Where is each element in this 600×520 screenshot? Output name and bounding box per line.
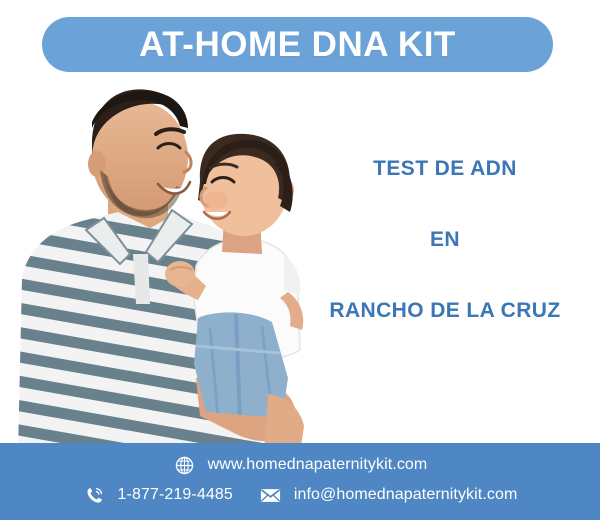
headline-line-2: EN [300, 229, 590, 250]
footer-email[interactable]: info@homednapaternitykit.com [259, 483, 518, 507]
page-title: AT-HOME DNA KIT [139, 27, 456, 62]
family-photo [0, 78, 330, 453]
footer-band: www.homednapaternitykit.com 1-877-219-44… [0, 443, 600, 520]
website-label: www.homednapaternitykit.com [208, 457, 428, 473]
phone-label: 1-877-219-4485 [118, 487, 233, 503]
footer-website[interactable]: www.homednapaternitykit.com [173, 453, 428, 477]
header-banner: AT-HOME DNA KIT [42, 17, 553, 72]
footer-website-row: www.homednapaternitykit.com [0, 453, 600, 477]
headline-line-1: TEST DE ADN [300, 158, 590, 179]
phone-icon [83, 483, 107, 507]
email-label: info@homednapaternitykit.com [294, 487, 518, 503]
globe-icon [173, 453, 197, 477]
footer-phone[interactable]: 1-877-219-4485 [83, 483, 233, 507]
headline-line-3: RANCHO DE LA CRUZ [300, 300, 590, 321]
headline-block: TEST DE ADN EN RANCHO DE LA CRUZ [300, 158, 590, 321]
poster-canvas: AT-HOME DNA KIT [0, 0, 600, 520]
footer-contact-row: 1-877-219-4485 info@homednapaternitykit.… [0, 483, 600, 507]
envelope-icon [259, 483, 283, 507]
